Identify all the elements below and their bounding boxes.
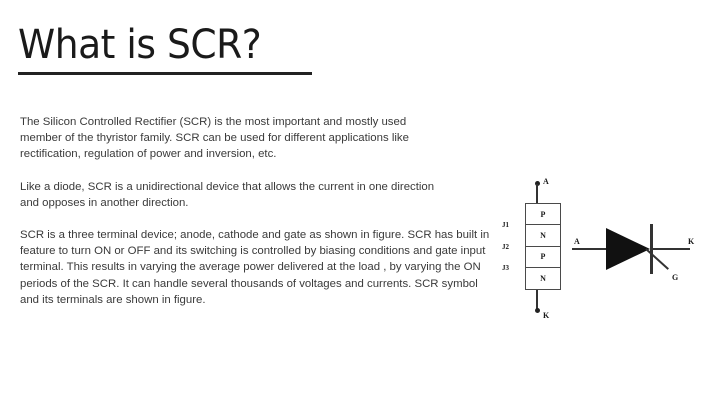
- body-text-column: The Silicon Controlled Rectifier (SCR) i…: [20, 114, 490, 308]
- figure-group: A P N P N J1 J2 J3 K A K G: [494, 172, 709, 332]
- layer-n2: N: [526, 268, 560, 289]
- cathode-terminal-dot: [535, 308, 540, 313]
- slide-canvas: What is SCR? The Silicon Controlled Rect…: [0, 0, 720, 404]
- symbol-cathode-lead: [652, 248, 690, 250]
- layer-n1: N: [526, 225, 560, 246]
- junction-label-j2: J2: [502, 243, 509, 251]
- symbol-gate-label: G: [672, 273, 678, 282]
- anode-lead-line: [536, 184, 538, 204]
- paragraph-unidirectional: Like a diode, SCR is a unidirectional de…: [20, 179, 450, 211]
- title-block: What is SCR?: [18, 22, 438, 75]
- title-underline-rule: [18, 72, 312, 75]
- symbol-anode-label: A: [574, 237, 580, 246]
- junction-label-j3: J3: [502, 264, 509, 272]
- symbol-anode-lead: [572, 248, 608, 250]
- scr-symbol-diagram: A K G: [568, 216, 708, 294]
- diode-triangle-icon: [606, 228, 650, 270]
- anode-terminal-label: A: [543, 177, 549, 186]
- page-title: What is SCR?: [18, 22, 413, 68]
- paragraph-intro: The Silicon Controlled Rectifier (SCR) i…: [20, 114, 426, 163]
- semiconductor-layer-stack: P N P N: [525, 203, 561, 290]
- cathode-lead-line: [536, 290, 538, 310]
- layer-p1: P: [526, 204, 560, 225]
- layer-p2: P: [526, 247, 560, 268]
- cathode-terminal-label: K: [543, 311, 549, 320]
- paragraph-three-terminal: SCR is a three terminal device; anode, c…: [20, 227, 490, 308]
- symbol-cathode-label: K: [688, 237, 694, 246]
- junction-label-j1: J1: [502, 221, 509, 229]
